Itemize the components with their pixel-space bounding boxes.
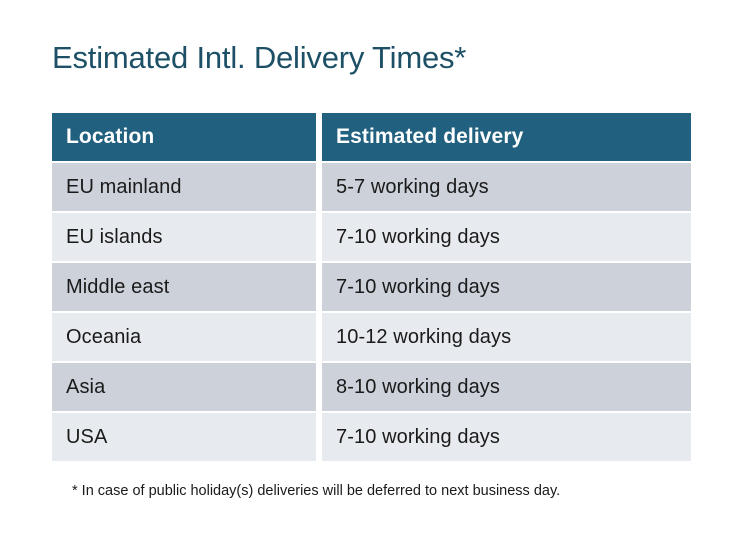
cell-estimated-delivery: 8-10 working days: [322, 363, 691, 411]
cell-location: EU mainland: [52, 163, 316, 211]
page-title: Estimated Intl. Delivery Times*: [52, 38, 466, 78]
cell-estimated-delivery: 5-7 working days: [322, 163, 691, 211]
column-header-estimated-delivery: Estimated delivery: [322, 113, 691, 161]
table-row: EU mainland 5-7 working days: [52, 163, 691, 211]
table-row: EU islands 7-10 working days: [52, 213, 691, 261]
delivery-times-table: Location Estimated delivery EU mainland …: [52, 113, 691, 461]
table-row: Oceania 10-12 working days: [52, 313, 691, 361]
cell-estimated-delivery: 7-10 working days: [322, 413, 691, 461]
footnote-text: * In case of public holiday(s) deliverie…: [72, 481, 560, 501]
cell-location: Asia: [52, 363, 316, 411]
table-row: USA 7-10 working days: [52, 413, 691, 461]
cell-location: EU islands: [52, 213, 316, 261]
cell-estimated-delivery: 7-10 working days: [322, 263, 691, 311]
table-row: Middle east 7-10 working days: [52, 263, 691, 311]
cell-estimated-delivery: 7-10 working days: [322, 213, 691, 261]
column-header-location: Location: [52, 113, 316, 161]
cell-estimated-delivery: 10-12 working days: [322, 313, 691, 361]
cell-location: USA: [52, 413, 316, 461]
cell-location: Oceania: [52, 313, 316, 361]
table-header-row: Location Estimated delivery: [52, 113, 691, 161]
page-canvas: Estimated Intl. Delivery Times* Location…: [0, 0, 745, 536]
table-row: Asia 8-10 working days: [52, 363, 691, 411]
cell-location: Middle east: [52, 263, 316, 311]
